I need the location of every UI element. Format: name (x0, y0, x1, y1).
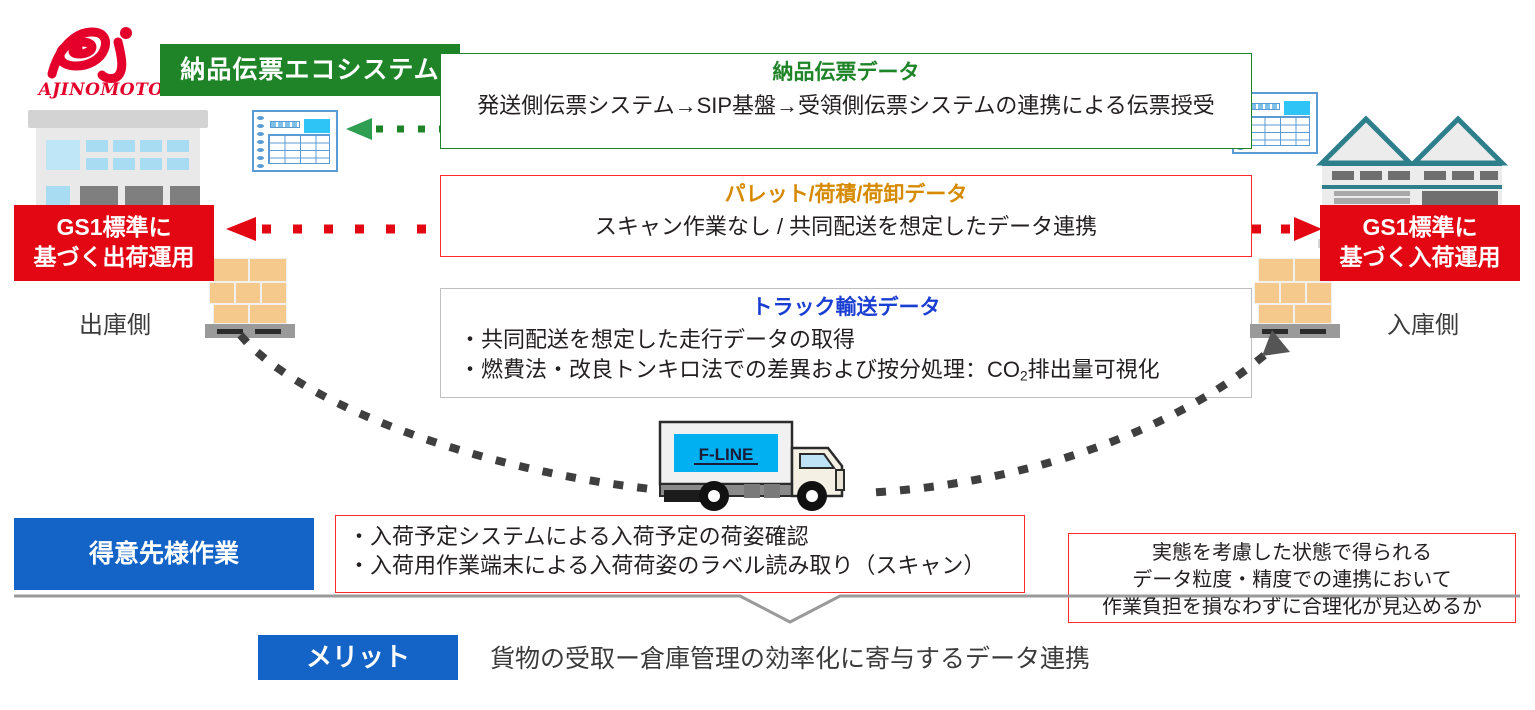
customer-work-body: ・入荷予定システムによる入荷予定の荷姿確認 ・入荷用作業端末による入荷荷姿のラベ… (348, 522, 1024, 581)
customer-work-box: ・入荷予定システムによる入荷予定の荷姿確認 ・入荷用作業端末による入荷荷姿のラベ… (335, 515, 1025, 593)
merit-chip: メリット (258, 635, 458, 680)
truck-panel-label: F-LINE (699, 445, 754, 464)
note-line-1: 実態を考慮した状態で得られる (1069, 540, 1515, 567)
merit-description: 貨物の受取ー倉庫管理の効率化に寄与するデータ連携 (490, 639, 1090, 675)
customer-bullet-1: ・入荷予定システムによる入荷予定の荷姿確認 (348, 522, 1024, 551)
truck-illustration: F-LINE (650, 418, 880, 510)
customer-work-chip: 得意先様作業 (14, 518, 314, 590)
customer-bullet-2: ・入荷用作業端末による入荷荷姿のラベル読み取り（スキャン） (348, 551, 1024, 580)
merit-divider (0, 588, 1535, 628)
